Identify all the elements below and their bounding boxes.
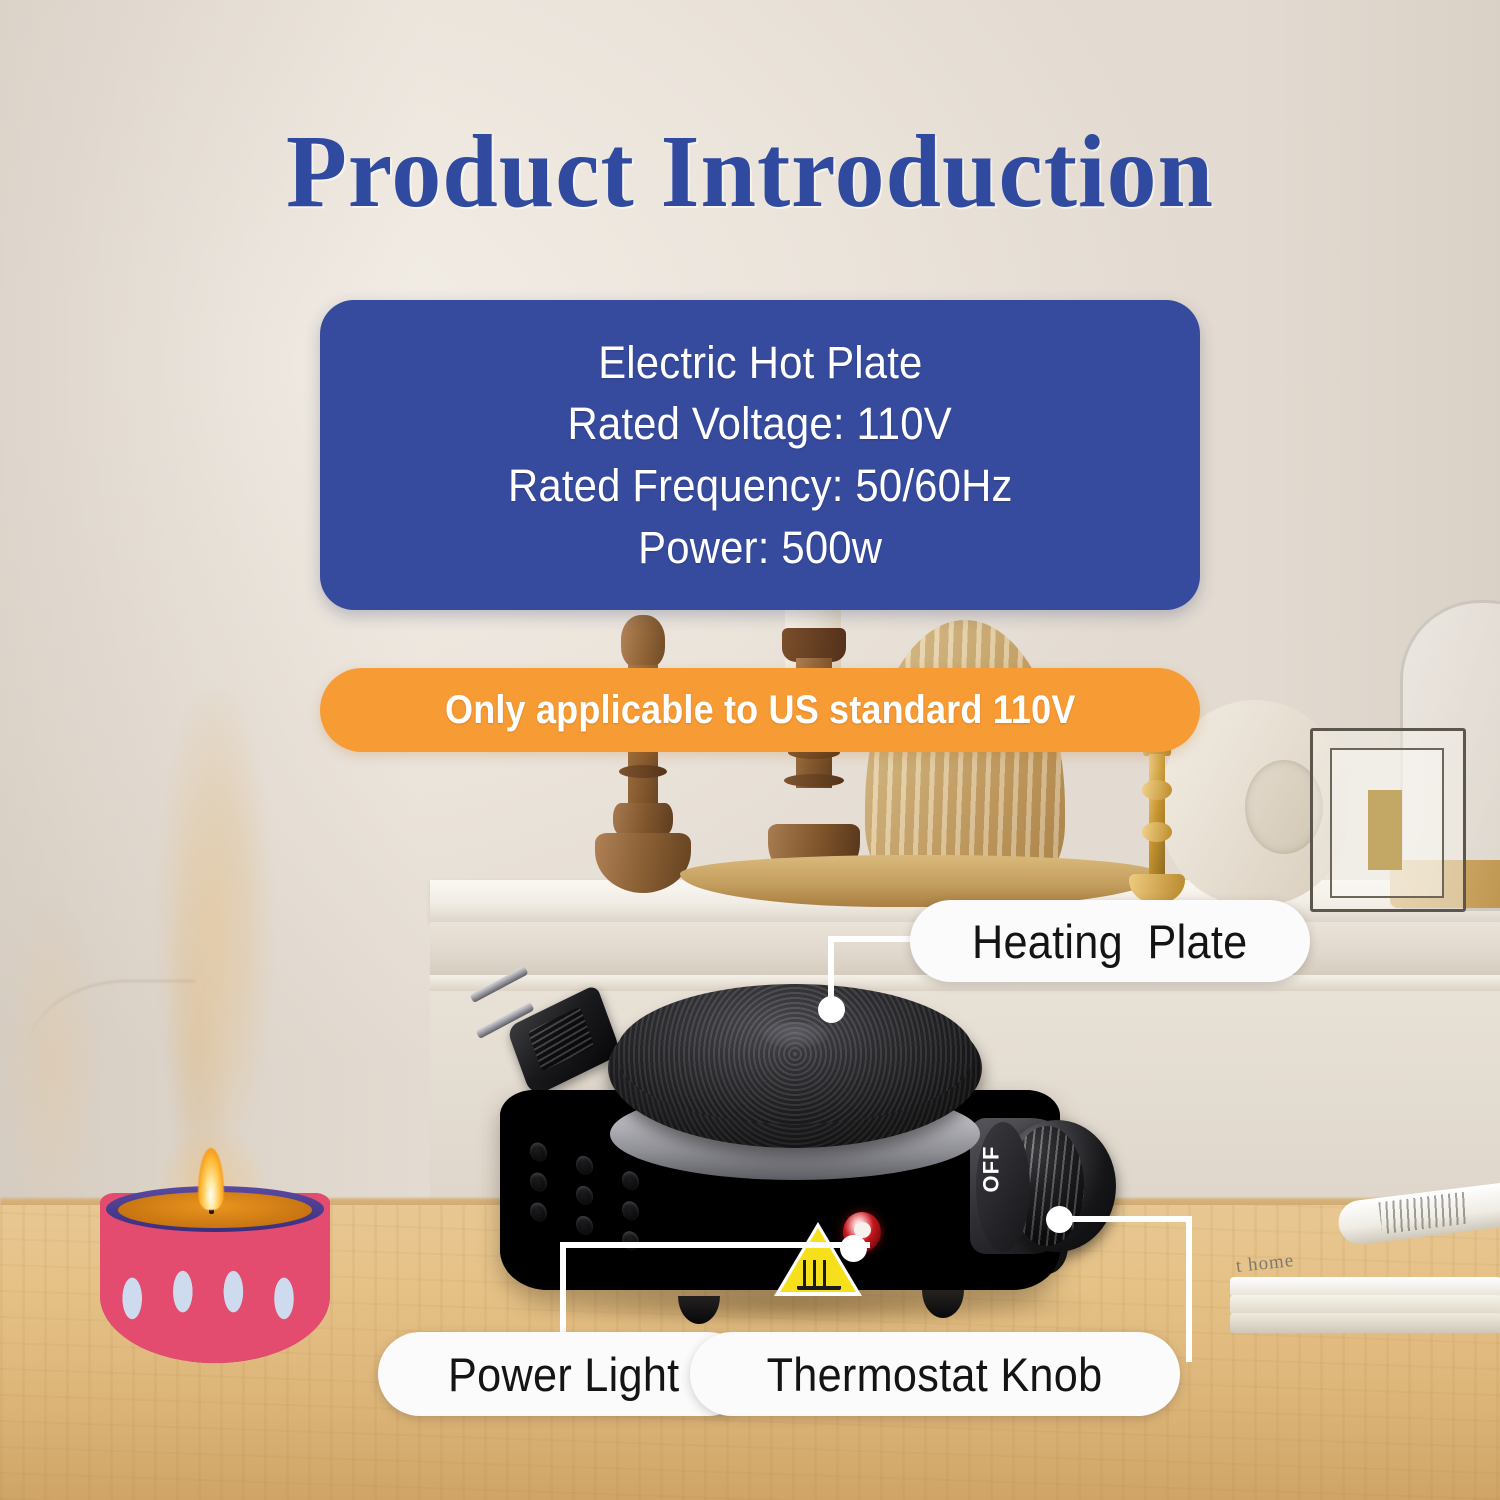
callout-leader-power-light xyxy=(560,1242,870,1248)
callout-leader-heating-plate xyxy=(828,936,918,942)
electric-hot-plate-product: OFF xyxy=(470,960,1170,1350)
spec-line-power: Power: 500w xyxy=(638,519,882,577)
callout-thermostat-knob: Thermostat Knob xyxy=(690,1332,1180,1416)
candlestick-ring-lower xyxy=(784,774,844,787)
candlestick-ring-lower xyxy=(619,765,667,778)
product-introduction-poster: t home xyxy=(0,0,1500,1500)
page-title: Product Introduction xyxy=(30,120,1470,224)
candlestick-base xyxy=(595,833,691,893)
callout-label-thermostat-knob: Thermostat Knob xyxy=(767,1347,1103,1402)
callout-dot-thermostat-knob xyxy=(1046,1206,1073,1233)
vent-hole xyxy=(530,1201,547,1223)
wooden-candlestick-left xyxy=(595,615,691,893)
spec-line-rated-voltage: Rated Voltage: 110V xyxy=(568,395,952,453)
vent-hole xyxy=(576,1185,593,1207)
callout-leader-thermostat-knob xyxy=(1070,1216,1192,1222)
callout-dot-power-light xyxy=(840,1235,867,1262)
candlestick-cup xyxy=(782,628,846,662)
vent-hole xyxy=(530,1171,547,1193)
brass-candlestick xyxy=(1125,738,1189,906)
voltage-notice-banner: Only applicable to US standard 110V xyxy=(320,668,1200,752)
knob-off-label: OFF xyxy=(979,1146,1005,1193)
magazine-layer xyxy=(1230,1277,1500,1297)
brass-candlestick-stem xyxy=(1149,754,1165,874)
callout-heating-plate: Heating Plate xyxy=(910,900,1310,982)
candlestick-collar xyxy=(613,803,673,835)
spec-line-rated-frequency: Rated Frequency: 50/60Hz xyxy=(508,457,1013,515)
vent-hole xyxy=(622,1200,639,1222)
specification-box: Electric Hot Plate Rated Voltage: 110V R… xyxy=(320,300,1200,610)
spec-line-product-name: Electric Hot Plate xyxy=(598,334,922,392)
callout-label-power-light: Power Light xyxy=(448,1347,679,1402)
magazine-layer xyxy=(1230,1295,1500,1315)
heating-plate-center xyxy=(762,1022,828,1048)
pressed-flower-sprig xyxy=(1368,790,1402,870)
vent-hole xyxy=(576,1155,593,1177)
vent-hole xyxy=(622,1170,639,1192)
vent-hole xyxy=(622,1230,639,1252)
vent-hole xyxy=(530,1141,547,1163)
callout-label-heating-plate: Heating Plate xyxy=(972,914,1247,969)
candlestick-knob xyxy=(621,615,665,669)
magazine-cover-text: t home xyxy=(1235,1250,1295,1278)
magazine-layer xyxy=(1230,1313,1500,1333)
heat-waves-glyph xyxy=(797,1260,841,1290)
heating-plate-surface xyxy=(616,984,974,1124)
callout-leader-thermostat-knob-vertical xyxy=(1186,1216,1192,1362)
plug-prong xyxy=(470,966,529,1003)
vent-hole xyxy=(576,1215,593,1237)
voltage-notice-text: Only applicable to US standard 110V xyxy=(445,688,1076,733)
callout-dot-heating-plate xyxy=(818,996,845,1023)
brass-candlestick-bulb xyxy=(1142,780,1172,800)
brass-candlestick-bulb-lower xyxy=(1142,822,1172,842)
magazine-stack: t home xyxy=(1230,1215,1500,1350)
